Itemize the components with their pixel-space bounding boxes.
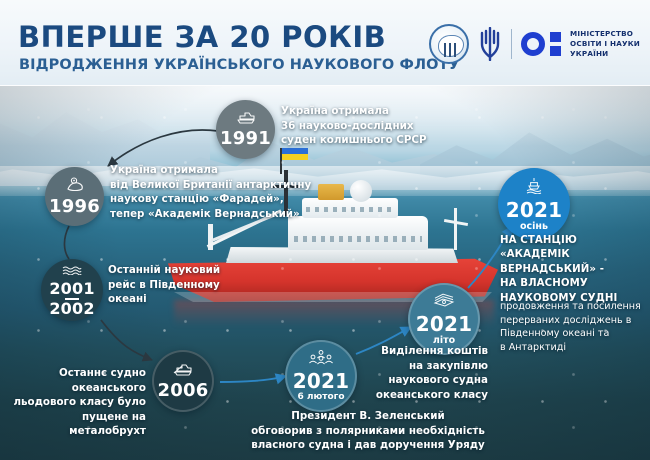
text-line: Південному океані та xyxy=(500,327,650,341)
ministry-logo-mark-icon xyxy=(521,31,563,57)
ship-aft-mast xyxy=(454,208,457,250)
ship-icon xyxy=(236,111,256,128)
text-line: від Великої Британії антарктичну xyxy=(110,178,311,193)
text-line: продовження та посилення xyxy=(500,300,650,314)
ukrainian-trident-emblem-icon xyxy=(478,27,502,61)
final-headline: НА СТАНЦІЮ «АКАДЕМІК ВЕРНАДСЬКИЙ» - НА В… xyxy=(500,234,650,306)
timeline-node-1991[interactable]: 1991 xyxy=(216,100,275,159)
text-line: Україна отримала xyxy=(110,163,311,178)
text-line: Останнє судно океанського xyxy=(6,366,146,395)
node-year-2021-autumn: 2021 xyxy=(506,200,562,220)
node-year-2002: 2002 xyxy=(49,301,94,317)
text-line: Президент В. Зеленський xyxy=(218,409,518,424)
text-line: на закупівлю xyxy=(335,359,488,374)
map-pin-antarctica-icon xyxy=(65,177,85,196)
text-line: океані xyxy=(108,292,220,307)
timeline-text-2001-2002: Останній науковий рейс в Південному океа… xyxy=(108,263,220,307)
text-line: Виділення коштів xyxy=(335,344,488,359)
ship-scrapped-icon xyxy=(172,363,194,380)
text-line: НА ВЛАСНОМУ xyxy=(500,277,650,291)
final-body: продовження та посилення перерваних досл… xyxy=(500,300,650,354)
ministry-logo-text: МІНІСТЕРСТВО ОСВІТИ І НАУКИ УКРАЇНИ xyxy=(570,29,640,60)
timeline-text-2006: Останнє судно океанського льодового клас… xyxy=(6,366,146,439)
logo-divider xyxy=(511,29,512,59)
text-line: обговорив з полярниками необхідність xyxy=(218,424,518,439)
timeline-node-1996[interactable]: 1996 xyxy=(45,167,104,226)
text-line: суден колишнього СРСР xyxy=(281,133,427,148)
text-line: Україна отримала xyxy=(281,104,427,119)
money-stack-icon xyxy=(432,292,456,312)
text-line: Останній науковий xyxy=(108,263,220,278)
people-group-icon xyxy=(308,350,334,369)
node-year-1996: 1996 xyxy=(49,198,100,216)
antarctic-center-emblem-icon xyxy=(429,24,469,64)
text-line: наукового судна xyxy=(335,373,488,388)
text-line: океанського класу xyxy=(335,388,488,403)
text-line: льодового класу було xyxy=(6,395,146,410)
text-line: пущене на металобрухт xyxy=(6,410,146,439)
page-title: ВПЕРШЕ ЗА 20 РОКІВ xyxy=(18,20,386,54)
ship-windows-lower xyxy=(294,236,422,242)
page-subtitle: ВІДРОДЖЕННЯ УКРАЇНСЬКОГО НАУКОВОГО ФЛОТУ xyxy=(19,57,460,73)
text-line: «АКАДЕМІК ВЕРНАДСЬКИЙ» - xyxy=(500,248,650,277)
text-line: власного судна і дав доручення Уряду xyxy=(218,438,518,453)
ship-front-icon xyxy=(523,177,545,198)
node-year-1991: 1991 xyxy=(220,130,271,148)
timeline-text-2021-february: Президент В. Зеленський обговорив з поля… xyxy=(218,409,518,453)
ship-windows-upper xyxy=(306,207,394,212)
timeline-node-2001-2002[interactable]: 2001 2002 xyxy=(41,259,103,321)
ministry-line-2: ОСВІТИ І НАУКИ xyxy=(570,39,640,49)
ship-radome xyxy=(350,180,372,202)
ministry-line-1: МІНІСТЕРСТВО xyxy=(570,29,640,39)
timeline-text-2021-summer: Виділення коштів на закупівлю наукового … xyxy=(335,344,488,402)
node-year-2021-summer: 2021 xyxy=(416,314,472,334)
infographic-root: ВПЕРШЕ ЗА 20 РОКІВ ВІДРОДЖЕННЯ УКРАЇНСЬК… xyxy=(0,0,650,460)
text-line: тепер «Академік Вернадський» xyxy=(110,207,311,222)
text-line: 36 науково-дослідних xyxy=(281,119,427,134)
text-line: рейс в Південному xyxy=(108,278,220,293)
text-line: наукову станцію «Фарадей», xyxy=(110,192,311,207)
timeline-text-1996: Україна отримала від Великої Британії ан… xyxy=(110,163,311,221)
ministry-line-3: УКРАЇНИ xyxy=(570,49,640,59)
node-sub-2021-autumn: осінь xyxy=(520,222,548,232)
text-line: НА СТАНЦІЮ xyxy=(500,234,650,248)
ship-funnel xyxy=(318,184,344,200)
text-line: в Антарктиді xyxy=(500,341,650,355)
header-bar: ВПЕРШЕ ЗА 20 РОКІВ ВІДРОДЖЕННЯ УКРАЇНСЬК… xyxy=(0,0,650,86)
text-line: перерваних досліджень в xyxy=(500,314,650,328)
logo-group: МІНІСТЕРСТВО ОСВІТИ І НАУКИ УКРАЇНИ xyxy=(429,20,640,68)
timeline-node-2006[interactable]: 2006 xyxy=(152,350,214,412)
ministry-logo: МІНІСТЕРСТВО ОСВІТИ І НАУКИ УКРАЇНИ xyxy=(521,29,640,60)
timeline-node-2021-autumn[interactable]: 2021 осінь xyxy=(498,168,570,240)
node-year-2001: 2001 xyxy=(49,281,94,297)
node-year-2006: 2006 xyxy=(158,382,209,400)
waves-icon xyxy=(62,263,82,279)
ukrainian-flag-icon xyxy=(282,148,308,160)
timeline-text-1991: Україна отримала 36 науково-дослідних су… xyxy=(281,104,427,148)
